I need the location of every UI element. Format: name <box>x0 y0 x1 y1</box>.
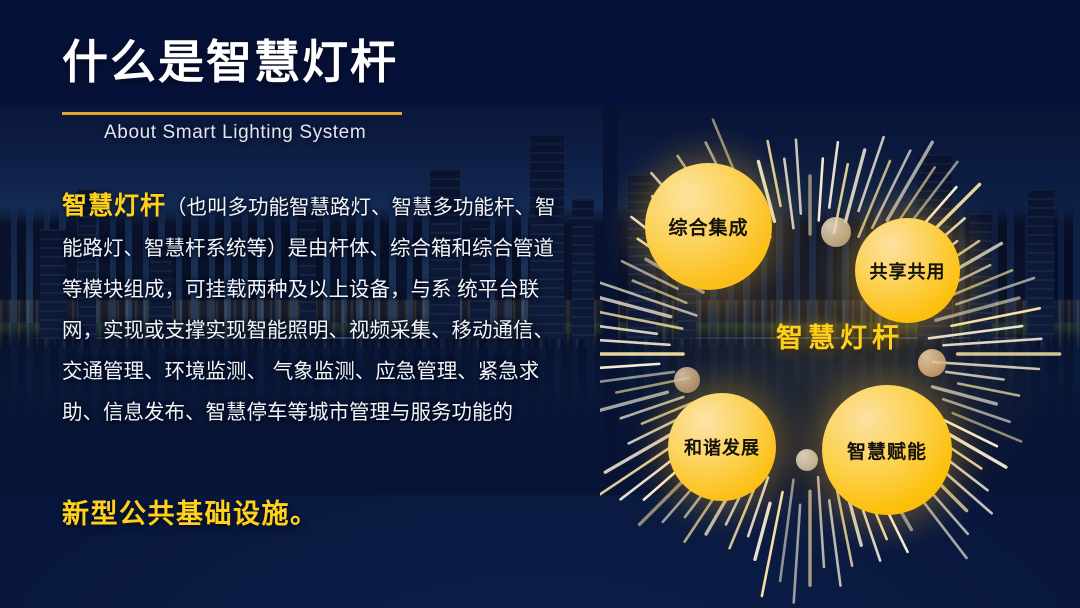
accent-sphere <box>674 367 700 393</box>
diagram-node-3[interactable]: 和谐发展 <box>668 393 776 501</box>
page-title: 什么是智慧灯杆 <box>62 36 398 89</box>
page-subtitle: About Smart Lighting System <box>104 122 366 144</box>
diagram-center-label: 智慧灯杆 <box>600 316 1080 355</box>
title-divider <box>62 112 402 115</box>
body-closing-line: 新型公共基础设施。 <box>62 492 319 531</box>
diagram-node-3-label: 和谐发展 <box>684 434 760 460</box>
diagram-node-1-label: 综合集成 <box>668 213 748 240</box>
diagram-node-2[interactable]: 共享共用 <box>855 218 960 323</box>
body-paragraph: 智慧灯杆（也叫多功能智慧路灯、智慧多功能杆、智能路灯、智慧杆系统等）是由杆体、综… <box>62 186 562 433</box>
diagram-node-1[interactable]: 综合集成 <box>645 163 772 290</box>
body-keyword: 智慧灯杆 <box>62 192 166 220</box>
diagram-node-4-label: 智慧赋能 <box>847 437 927 464</box>
accent-sphere <box>796 449 818 471</box>
diagram-node-4[interactable]: 智慧赋能 <box>822 385 952 515</box>
radial-burst-diagram: 综合集成 共享共用 和谐发展 智慧赋能 智慧灯杆 <box>600 100 1080 608</box>
slide-root: 什么是智慧灯杆 About Smart Lighting System 智慧灯杆… <box>0 0 1080 608</box>
accent-sphere <box>821 217 851 247</box>
body-paragraph-text: （也叫多功能智慧路灯、智慧多功能杆、智能路灯、智慧杆系统等）是由杆体、综合箱和综… <box>62 196 556 424</box>
diagram-node-2-label: 共享共用 <box>870 258 946 284</box>
